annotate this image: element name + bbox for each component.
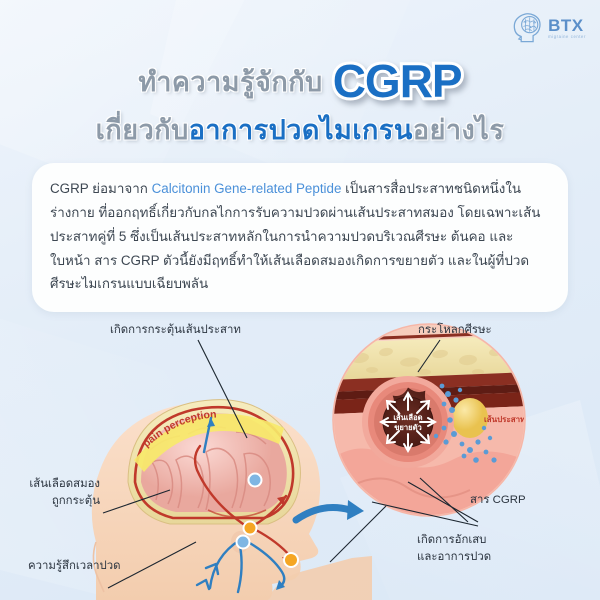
label-inflammation-line1: เกิดการอักเสบ [417,534,486,546]
label-nerve-stimulation: เกิดการกระตุ้นเส้นประสาท [110,322,241,339]
label-leader-lines [0,310,600,600]
brand-logo: BTX migraine center [511,11,586,45]
title-thai-part-b: อาการปวดไมเกรน [189,115,413,145]
head-brain-icon [511,11,545,45]
description-card: CGRP ย่อมาจาก Calcitonin Gene-related Pe… [32,163,568,312]
title-line-2: เกี่ยวกับอาการปวดไมเกรนอย่างไร [0,108,600,151]
title-line-1: ทำความรู้จักกับ CGRP [0,56,600,106]
label-cgrp-substance: สาร CGRP [470,492,526,509]
label-pain-sensation: ความรู้สึกเวลาปวด [28,558,121,575]
migraine-diagram: pain perception [0,310,600,600]
label-blood-vessel-line1: เส้นเลือดสมอง [29,478,100,490]
paragraph-segment-2: เป็นสารสื่อประสาทชนิดหนึ่งในร่างกาย ที่อ… [50,181,540,291]
logo-brand-name: BTX [548,17,586,34]
paragraph-segment-1: CGRP ย่อมาจาก [50,181,152,196]
label-skull: กระโหลกศีรษะ [418,322,492,339]
infographic-page: BTX migraine center ทำความรู้จักกับ CGRP… [0,0,600,600]
title-cgrp-word: CGRP [333,54,462,108]
label-inflammation-line2: และอาการปวด [417,551,491,563]
label-blood-vessel-stimulated: เส้นเลือดสมอง ถูกกระตุ้น [0,476,100,509]
label-blood-vessel-line2: ถูกกระตุ้น [52,495,100,507]
description-paragraph: CGRP ย่อมาจาก Calcitonin Gene-related Pe… [50,177,550,296]
page-title: ทำความรู้จักกับ CGRP เกี่ยวกับอาการปวดไม… [0,56,600,151]
title-thai-part-c: อย่างไร [413,115,504,145]
label-inflammation-pain: เกิดการอักเสบ และอาการปวด [417,532,491,565]
title-thai-prefix: ทำความรู้จักกับ [138,60,322,103]
paragraph-english-term: Calcitonin Gene-related Peptide [152,181,342,196]
title-thai-part-a: เกี่ยวกับ [96,115,189,145]
logo-tagline: migraine center [548,35,586,39]
